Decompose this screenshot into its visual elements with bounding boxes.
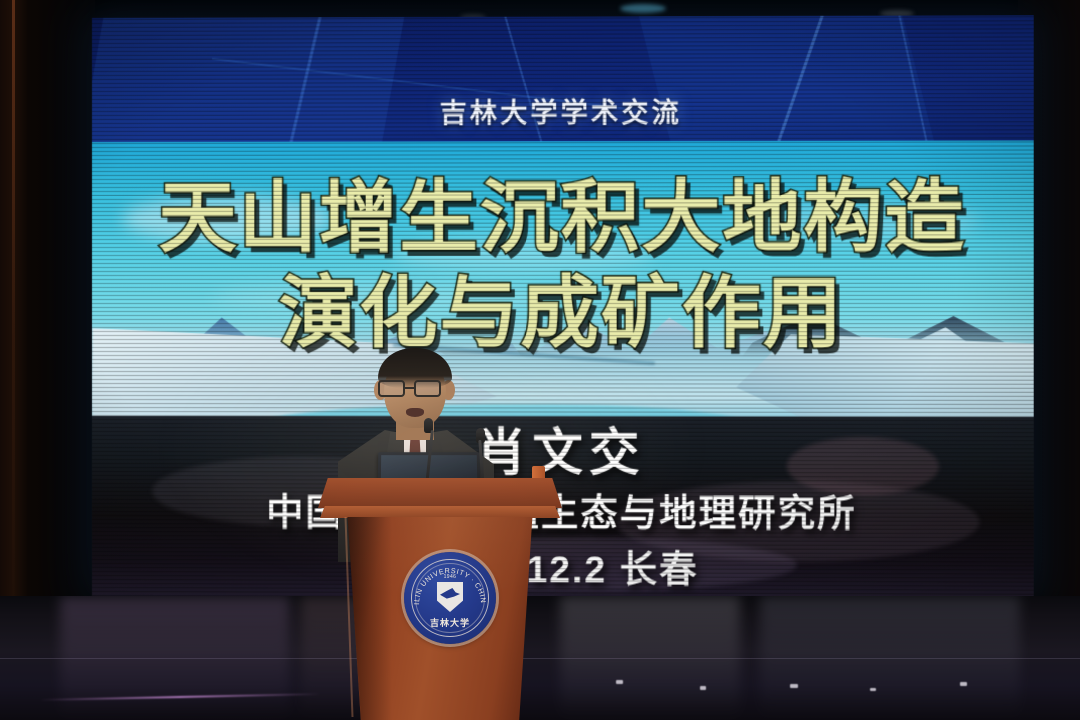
glasses-icon [378, 380, 452, 397]
floor-speck-1 [616, 680, 623, 684]
slide-eyebrow-text: 吉林大学学术交流 [92, 90, 1034, 131]
slide-affiliation: 中国科学院新疆生态与地理研究所 [92, 482, 1034, 538]
glasses-lens-left [378, 380, 405, 397]
speaker-mouth [406, 408, 424, 417]
jilin-university-emblem-icon: JILIN UNIVERSITY · CHINA 1946 吉林大学 [404, 552, 496, 644]
slide-text-layer: 吉林大学学术交流 天山增生沉积大地构造 演化与成矿作用 肖文交 中国科学院新疆生… [92, 15, 1034, 599]
floor-speck-5 [960, 682, 967, 686]
glasses-bridge [405, 387, 414, 389]
stage-wall-left [0, 0, 95, 610]
podium-left-shadow [330, 517, 392, 720]
ceiling-light-glint [620, 4, 666, 13]
stage-photo-scene: 吉林大学学术交流 天山增生沉积大地构造 演化与成矿作用 肖文交 中国科学院新疆生… [0, 0, 1080, 720]
emblem-founding-year: 1946 [404, 574, 496, 580]
floor-speck-3 [790, 684, 798, 688]
led-presentation-screen: 吉林大学学术交流 天山增生沉积大地构造 演化与成矿作用 肖文交 中国科学院新疆生… [92, 15, 1034, 599]
slide-title-line-2: 演化与成矿作用 [92, 250, 1034, 363]
floor-speck-2 [700, 686, 706, 690]
floor-speck-4 [870, 688, 876, 691]
podium-top-surface [318, 478, 562, 508]
slide-speaker-name: 肖文交 [92, 412, 1034, 486]
podium-front-lip [320, 506, 560, 518]
emblem-chinese-name: 吉林大学 [404, 616, 496, 629]
glasses-lens-right [414, 380, 441, 397]
slide-date-city: 2023.12.2 长春 [92, 538, 1034, 595]
